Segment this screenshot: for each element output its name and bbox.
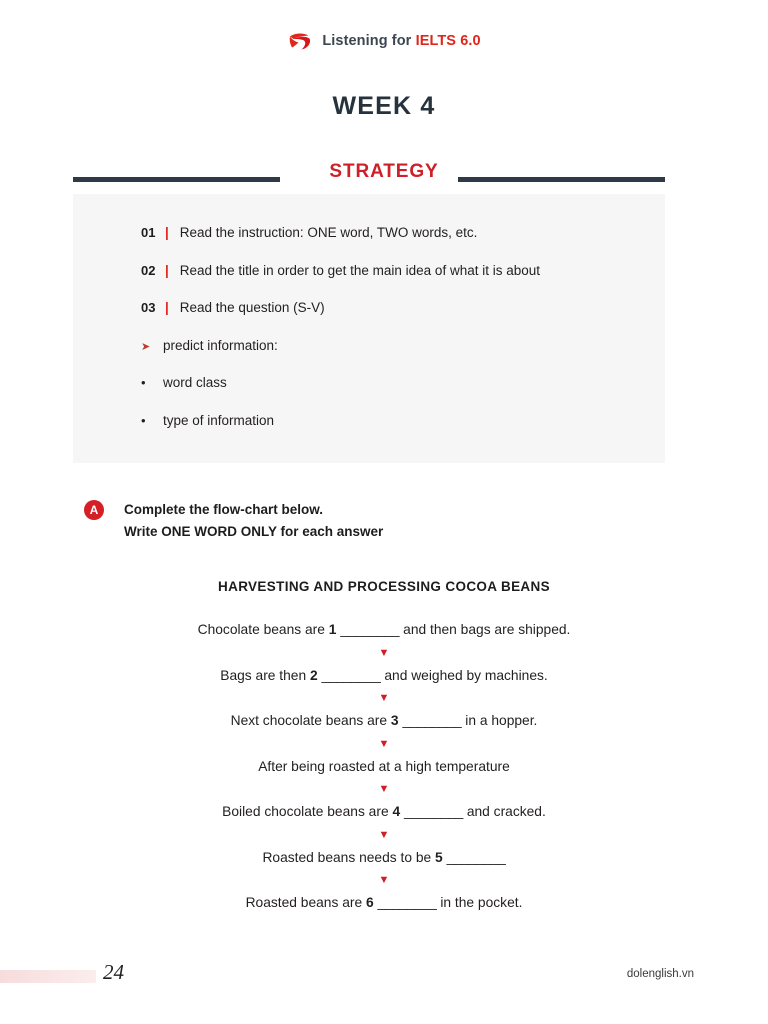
flow-step-text-after: in the pocket. [437, 895, 523, 910]
strategy-item-separator: | [165, 225, 169, 240]
task-instruction: A Complete the flow-chart below. Write O… [84, 499, 768, 543]
flow-step-text-after: and then bags are shipped. [399, 622, 570, 637]
strategy-sub-item-text: predict information: [163, 337, 278, 355]
flow-step-blank[interactable]: ________ [404, 804, 463, 819]
strategy-item-text: Read the title in order to get the main … [180, 262, 540, 280]
flow-step-blank[interactable]: ________ [340, 622, 399, 637]
strategy-box: 01 | Read the instruction: ONE word, TWO… [73, 194, 665, 463]
flow-step-blank[interactable]: ________ [322, 668, 381, 683]
flow-chart: HARVESTING AND PROCESSING COCOA BEANS Ch… [0, 579, 768, 912]
footer-accent-bar [0, 970, 96, 983]
flow-arrow-icon: ▼ [0, 693, 768, 704]
strategy-item-number: 03 [141, 300, 160, 315]
strategy-section: STRATEGY 01 | Read the instruction: ONE … [0, 161, 768, 463]
flow-arrow-icon: ▼ [0, 875, 768, 886]
flow-step-text-after: and cracked. [463, 804, 546, 819]
flow-step-number: 6 [366, 895, 374, 910]
flow-step: Next chocolate beans are 3 ________ in a… [0, 713, 768, 730]
flow-step-blank[interactable]: ________ [378, 895, 437, 910]
flow-arrow-icon: ▼ [0, 739, 768, 750]
strategy-item-number: 02 [141, 263, 160, 278]
strategy-item-number: 01 [141, 225, 160, 240]
flow-step: Roasted beans are 6 ________ in the pock… [0, 895, 768, 912]
page-number: 24 [103, 960, 124, 985]
page-footer: 24 dolenglish.vn [0, 964, 768, 990]
flow-step-blank[interactable]: ________ [402, 713, 461, 728]
flow-step-text-before: Boiled chocolate beans are [222, 804, 392, 819]
brand-title: Listening for IELTS 6.0 [322, 33, 480, 49]
strategy-item-text: Read the question (S-V) [180, 299, 325, 317]
flow-step-number: 4 [392, 804, 400, 819]
flow-step: Roasted beans needs to be 5 ________ [0, 850, 768, 867]
flow-step-blank[interactable]: ________ [447, 850, 506, 865]
flow-step-text-before: Chocolate beans are [198, 622, 329, 637]
flow-step-text-before: After being roasted at a high temperatur… [258, 759, 510, 774]
task-instruction-line-1: Complete the flow-chart below. [124, 499, 383, 521]
flow-chart-title: HARVESTING AND PROCESSING COCOA BEANS [0, 579, 768, 594]
flow-step-number: 2 [310, 668, 318, 683]
flow-step: Chocolate beans are 1 ________ and then … [0, 622, 768, 639]
flow-step-text-before: Bags are then [220, 668, 310, 683]
task-instruction-text: Complete the flow-chart below. Write ONE… [124, 499, 383, 543]
footer-website: dolenglish.vn [627, 968, 694, 980]
strategy-item-text: Read the instruction: ONE word, TWO word… [180, 224, 478, 242]
flow-step-text-before: Roasted beans needs to be [262, 850, 435, 865]
strategy-sub-item-text: type of information [163, 412, 274, 430]
flow-arrow-icon: ▼ [0, 784, 768, 795]
flow-step-text-before: Next chocolate beans are [231, 713, 391, 728]
strategy-item-separator: | [165, 263, 169, 278]
flow-step: Bags are then 2 ________ and weighed by … [0, 668, 768, 685]
dot-bullet-icon: • [141, 376, 163, 389]
strategy-sub-item: ➤ predict information: [73, 337, 665, 355]
flow-step-text-before: Roasted beans are [246, 895, 366, 910]
dol-d-logo-icon [287, 28, 313, 54]
flow-step-number: 5 [435, 850, 443, 865]
flow-step: After being roasted at a high temperatur… [0, 759, 768, 776]
flow-chart-steps: Chocolate beans are 1 ________ and then … [0, 622, 768, 912]
flow-step: Boiled chocolate beans are 4 ________ an… [0, 804, 768, 821]
flow-step-text-after: in a hopper. [461, 713, 537, 728]
strategy-item: 02 | Read the title in order to get the … [73, 262, 665, 280]
strategy-sub-item-text: word class [163, 374, 227, 392]
flow-step-number: 3 [391, 713, 399, 728]
strategy-sub-item: • word class [73, 374, 665, 392]
strategy-item: 01 | Read the instruction: ONE word, TWO… [73, 224, 665, 242]
task-instruction-line-2: Write ONE WORD ONLY for each answer [124, 521, 383, 543]
brand-prefix: Listening for [322, 33, 415, 49]
strategy-item: 03 | Read the question (S-V) [73, 299, 665, 317]
strategy-item-separator: | [165, 300, 169, 315]
flow-arrow-icon: ▼ [0, 648, 768, 659]
strategy-title: STRATEGY [0, 161, 768, 183]
flow-step-text-after: and weighed by machines. [381, 668, 548, 683]
brand-accent: IELTS 6.0 [416, 33, 481, 49]
arrow-bullet-icon: ➤ [141, 342, 163, 353]
dot-bullet-icon: • [141, 414, 163, 427]
page-header: Listening for IELTS 6.0 [0, 0, 768, 54]
strategy-header: STRATEGY [0, 161, 768, 187]
page-title: WEEK 4 [0, 92, 768, 121]
task-badge: A [84, 500, 104, 520]
flow-arrow-icon: ▼ [0, 830, 768, 841]
strategy-sub-item: • type of information [73, 412, 665, 430]
